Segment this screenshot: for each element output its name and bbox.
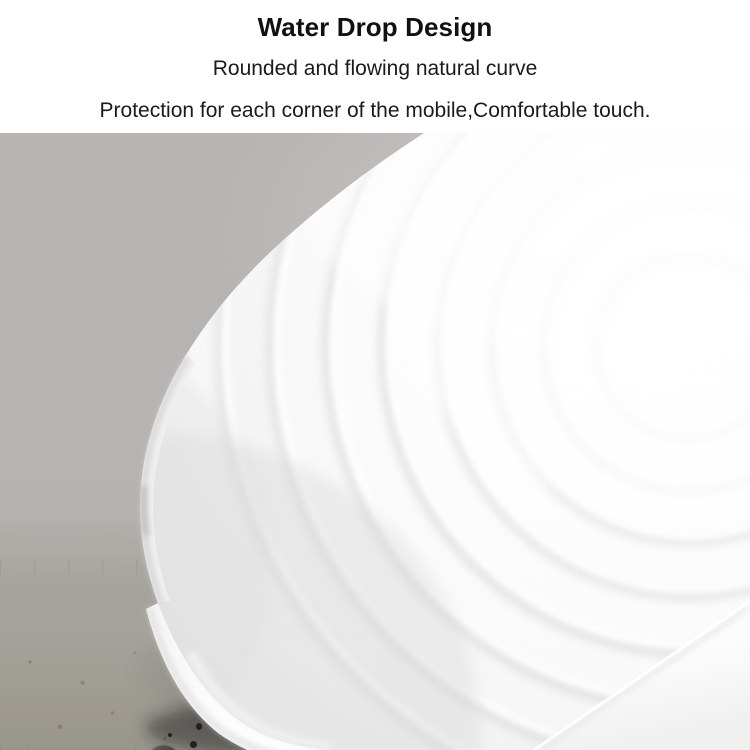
- header-subtitle: Rounded and flowing natural curve: [0, 57, 750, 81]
- header-text-block: Water Drop Design Rounded and flowing na…: [0, 0, 750, 133]
- phone-case: [0, 133, 750, 750]
- product-photo: [0, 133, 750, 750]
- page-title: Water Drop Design: [0, 12, 750, 43]
- product-banner: Water Drop Design Rounded and flowing na…: [0, 0, 750, 750]
- header-divider: [0, 131, 750, 133]
- header-tagline: Protection for each corner of the mobile…: [0, 99, 750, 123]
